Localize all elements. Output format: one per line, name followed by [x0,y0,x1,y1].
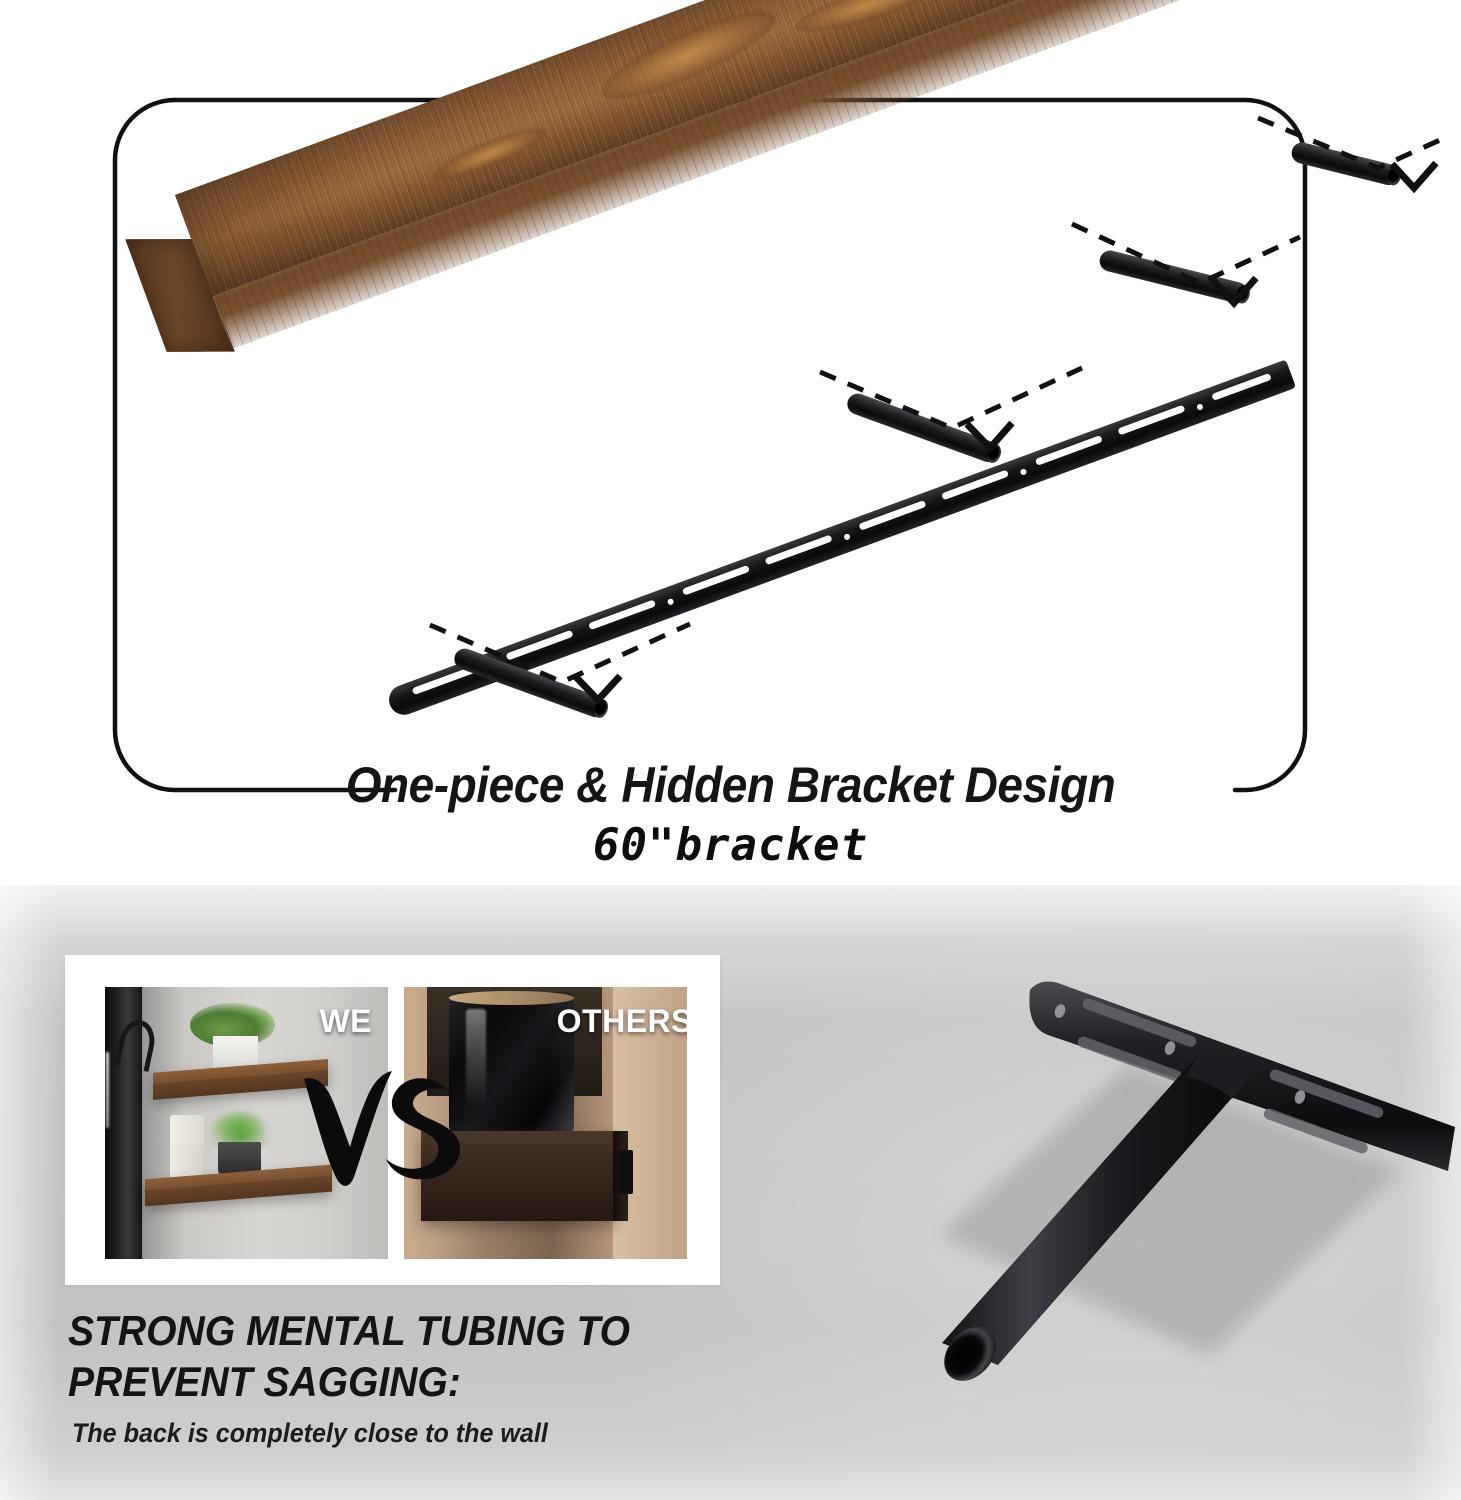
bottom-subtitle: The back is completely close to the wall [72,1418,779,1449]
top-subheadline: 60"bracket [0,820,1461,871]
comparison-card: WE OTHERS [65,955,720,1285]
floating-shelf-upper [153,1059,328,1100]
label-we: WE [319,1003,372,1040]
bottom-title-line-1: STRONG MENTAL TUBING TO [68,1305,738,1356]
glass-panel [106,1052,109,1128]
bottom-title-line-2: PREVENT SAGGING: [68,1356,738,1407]
top-product-panel: One-piece & Hidden Bracket Design 60"bra… [0,0,1461,885]
top-headline: One-piece & Hidden Bracket Design [58,756,1402,814]
others-photo-pane: OTHERS [404,987,687,1259]
mug-rim [449,991,574,1005]
dashed-callout-arrows [0,0,1461,885]
exposed-bracket [619,1150,633,1194]
we-photo-pane: WE [105,987,388,1259]
sagging-shelf [421,1131,616,1221]
infographic-page: One-piece & Hidden Bracket Design 60"bra… [0,0,1461,1500]
mug-highlight [466,1009,486,1107]
bottom-title: STRONG MENTAL TUBING TO PREVENT SAGGING: [68,1305,738,1407]
comparison-photo-pair: WE OTHERS [105,987,687,1259]
label-others: OTHERS [557,1003,687,1040]
